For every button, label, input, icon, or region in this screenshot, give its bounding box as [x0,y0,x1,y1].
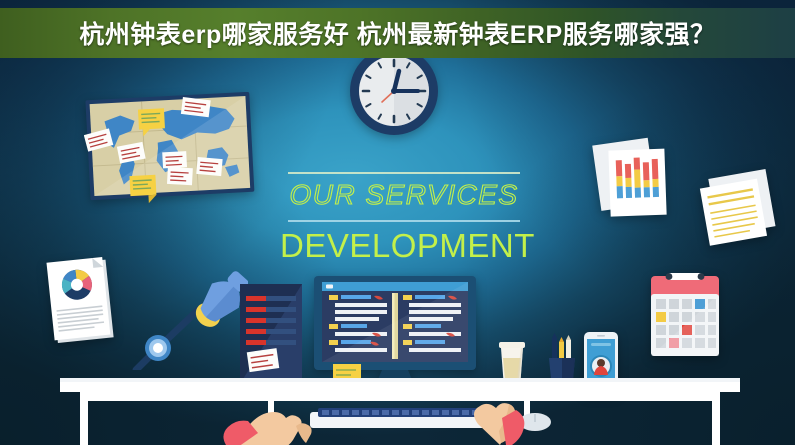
world-map-board [84,92,256,204]
headline-block: OUR SERVICES DEVELOPMENT [280,172,528,262]
title-banner: 杭州钟表erp哪家服务好 杭州最新钟表ERP服务哪家强？ [0,8,795,58]
title-text: 杭州钟表erp哪家服务好 杭州最新钟表ERP服务哪家强？ [79,15,715,51]
work-desk [0,330,795,445]
wall-clock [348,45,440,137]
bar-chart-document [592,132,678,236]
headline-rule-bottom [288,220,520,222]
svg-text:OUR SERVICES: OUR SERVICES [289,179,518,210]
map-note [129,175,156,204]
development-text: DEVELOPMENT [280,229,528,262]
our-services-text: OUR SERVICES [280,178,528,212]
headline-rule-top [288,172,520,174]
promo-banner-image: OUR SERVICES DEVELOPMENT [0,0,795,445]
yellow-lined-note [694,166,786,252]
